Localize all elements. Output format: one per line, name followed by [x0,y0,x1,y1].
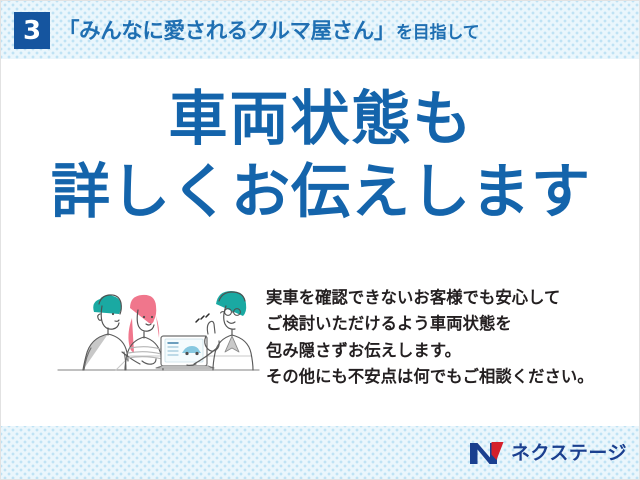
consultation-illustration-svg [56,278,261,390]
step-number-badge: 3 [14,12,50,49]
body-copy-line-1: 実車を確認できないお客様でも安心して [266,285,616,311]
header-title-sub: を目指して [395,18,480,43]
body-copy-line-4: その他にも不安点は何でもご相談ください。 [266,364,616,390]
brand-name: ネクステージ [511,444,627,463]
headline-line-2: 詳しくお伝えします [1,162,640,221]
body-copy-line-2: ご検討いただけるよう車両状態を [266,311,616,337]
body-copy: 実車を確認できないお客様でも安心して ご検討いただけるよう車両状態を 包み隠さず… [266,285,616,391]
consultation-illustration [56,278,261,390]
headline: 車両状態も 詳しくお伝えします [1,89,640,221]
nextage-n-mark-icon [469,440,505,466]
body-copy-line-3: 包み隠さずお伝えします。 [266,338,616,364]
header-title-main: 「みんなに愛されるクルマ屋さん」 [58,14,395,45]
headline-line-1: 車両状態も [1,89,640,148]
header-title: 「みんなに愛されるクルマ屋さん」 を目指して [58,14,479,48]
promo-slide: 3 「みんなに愛されるクルマ屋さん」 を目指して 車両状態も 詳しくお伝えします [0,0,640,480]
brand-logo: ネクステージ [469,439,627,467]
